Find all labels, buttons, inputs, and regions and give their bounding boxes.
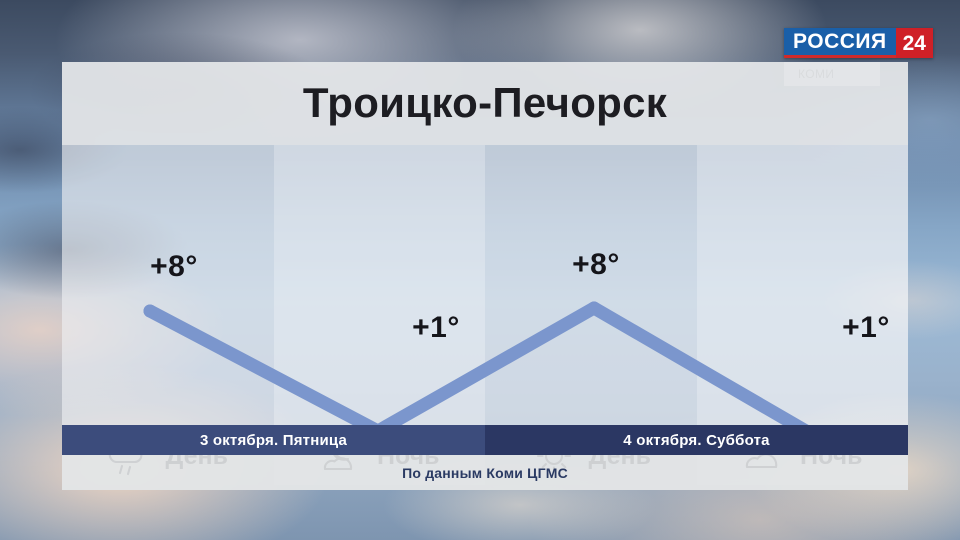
date-bar: 3 октября. Пятница 4 октября. Суббота [62,425,908,455]
channel-logo-number: 24 [896,28,933,58]
panel-header: Троицко-Печорск [62,62,908,145]
channel-logo: РОССИЯ 24 [784,28,933,58]
temp-label-2: +1° [412,313,460,343]
weather-broadcast-graphic: РОССИЯ 24 КОМИ Троицко-Печорск +8° +1° +… [0,0,960,540]
temperature-chart: +8° +1° +8° +1° [62,145,908,427]
temperature-line [62,145,908,427]
temp-label-3: +8° [572,250,620,280]
date-segment-2: 4 октября. Суббота [485,425,908,455]
page-title: Троицко-Печорск [62,82,908,124]
footer-bar: По данным Коми ЦГМС [62,455,908,490]
data-source-text: По данным Коми ЦГМС [402,465,568,481]
temp-label-4: +1° [842,313,890,343]
temp-label-1: +8° [150,252,198,282]
channel-logo-brand: РОССИЯ [784,28,896,58]
date-segment-1: 3 октября. Пятница [62,425,485,455]
